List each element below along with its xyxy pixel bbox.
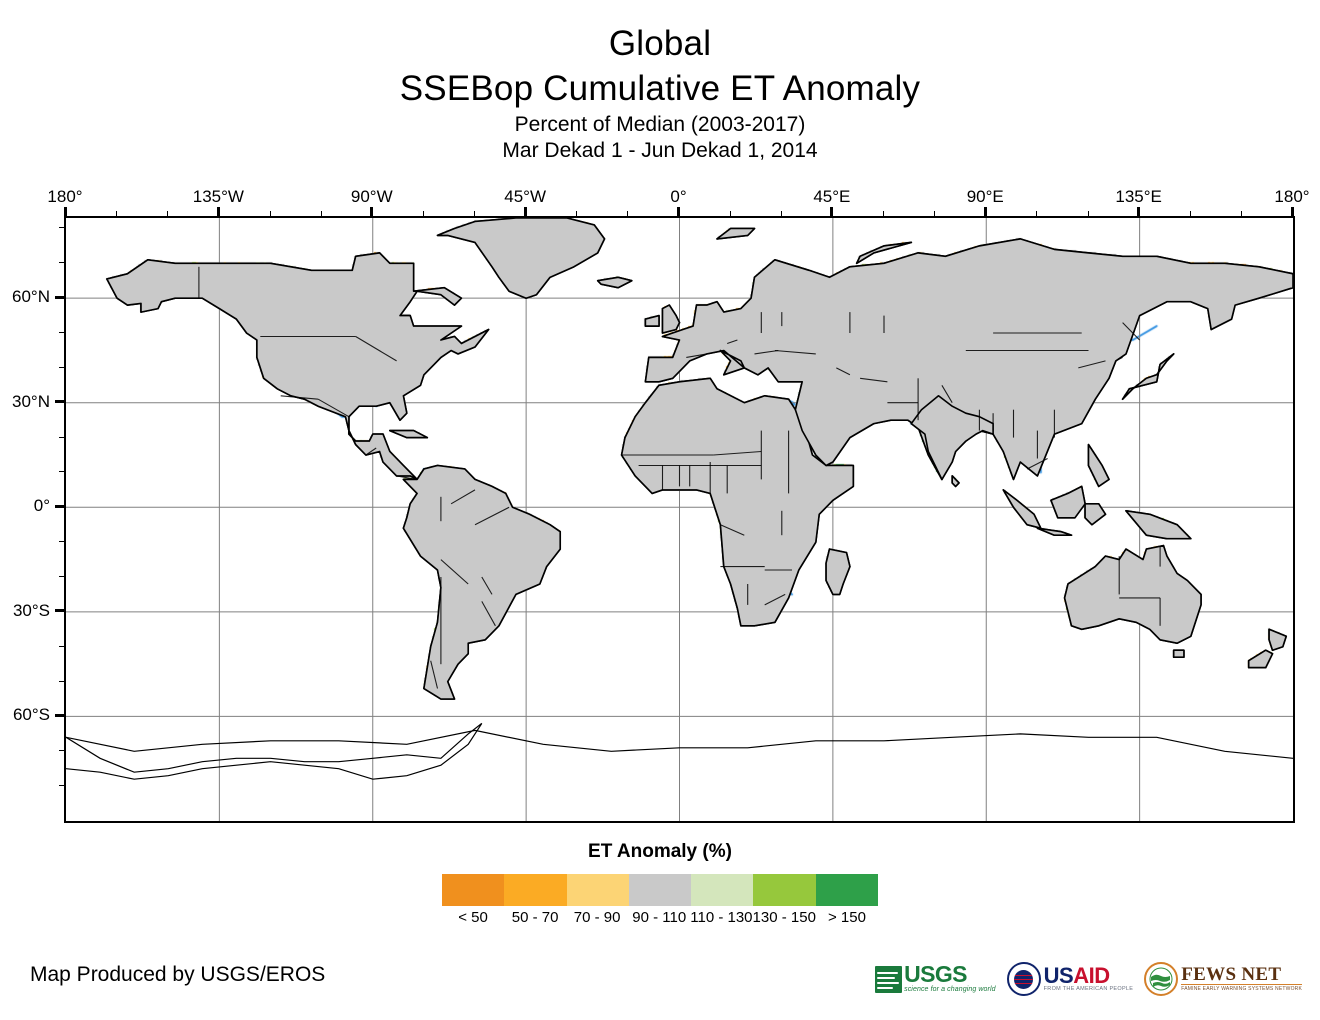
usaid-word-aid: AID (1073, 963, 1109, 988)
x-axis-label-6: 90°E (967, 187, 1004, 207)
legend-labels: < 5050 - 7070 - 9090 - 110110 - 130130 -… (442, 909, 878, 926)
legend-swatch-1 (504, 874, 566, 906)
x-tick-major-4 (677, 207, 680, 216)
y-tick-minor (59, 576, 64, 577)
y-axis-label-2: 0° (0, 496, 50, 516)
usgs-tagline: science for a changing world (904, 985, 996, 994)
x-tick-major-7 (1137, 207, 1140, 216)
x-tick-minor (1190, 211, 1191, 216)
y-tick-major-2 (55, 505, 64, 508)
x-axis-label-4: 0° (670, 187, 686, 207)
usgs-logo[interactable]: USGS science for a changing world (875, 964, 996, 994)
y-tick-minor (59, 471, 64, 472)
x-tick-major-8 (1291, 207, 1294, 216)
x-tick-minor (1036, 211, 1037, 216)
title-detail-1: Percent of Median (2003-2017) (0, 112, 1320, 138)
legend-swatch-2 (567, 874, 629, 906)
y-tick-minor (59, 541, 64, 542)
legend-swatch-label-1: 50 - 70 (504, 909, 566, 926)
y-tick-minor (59, 646, 64, 647)
y-tick-major-1 (55, 400, 64, 403)
usaid-wordmark: USAID (1044, 966, 1134, 986)
usgs-wordmark: USGS (904, 964, 996, 985)
y-tick-minor (59, 367, 64, 368)
y-axis-label-0: 60°N (0, 287, 50, 307)
fewsnet-globe-icon (1144, 962, 1178, 996)
y-tick-minor (59, 785, 64, 786)
y-tick-minor (59, 227, 64, 228)
legend-swatch-3 (629, 874, 691, 906)
map-credit: Map Produced by USGS/EROS (30, 963, 325, 987)
usaid-tagline: FROM THE AMERICAN PEOPLE (1044, 986, 1134, 993)
x-axis-label-2: 90°W (351, 187, 393, 207)
x-axis-label-5: 45°E (813, 187, 850, 207)
x-tick-minor (627, 211, 628, 216)
legend-color-bar (442, 874, 878, 906)
x-axis-label-7: 135°E (1115, 187, 1162, 207)
y-tick-major-0 (55, 296, 64, 299)
map-frame[interactable] (64, 216, 1295, 823)
x-tick-minor (167, 211, 168, 216)
x-axis-label-1: 135°W (193, 187, 244, 207)
y-axis-label-3: 30°S (0, 601, 50, 621)
x-tick-minor (1088, 211, 1089, 216)
world-vector-overlay (66, 218, 1293, 821)
legend-swatch-label-6: > 150 (816, 909, 878, 926)
y-tick-minor (59, 437, 64, 438)
legend-swatch-label-3: 90 - 110 (628, 909, 690, 926)
fewsnet-wordmark: FEWS NET (1181, 965, 1302, 985)
x-tick-minor (781, 211, 782, 216)
legend-swatch-label-5: 130 - 150 (753, 909, 816, 926)
x-tick-major-0 (64, 207, 67, 216)
x-tick-major-1 (217, 207, 220, 216)
x-tick-minor (883, 211, 884, 216)
usaid-seal-icon (1007, 962, 1041, 996)
x-tick-major-3 (524, 207, 527, 216)
legend: ET Anomaly (%) < 5050 - 7070 - 9090 - 11… (0, 840, 1320, 926)
map-canvas[interactable] (66, 218, 1293, 821)
page-title: Global (0, 22, 1320, 66)
y-tick-major-4 (55, 714, 64, 717)
x-tick-minor (116, 211, 117, 216)
x-tick-minor (270, 211, 271, 216)
x-axis-label-0: 180° (47, 187, 82, 207)
y-tick-minor (59, 681, 64, 682)
y-tick-minor (59, 750, 64, 751)
logo-strip: USGS science for a changing world USAID … (875, 955, 1302, 1003)
y-axis-label-1: 30°N (0, 392, 50, 412)
x-tick-minor (730, 211, 731, 216)
page-subtitle: SSEBop Cumulative ET Anomaly (0, 66, 1320, 112)
fewsnet-tagline: FAMINE EARLY WARNING SYSTEMS NETWORK (1181, 985, 1302, 993)
usgs-wave-mark-icon (875, 966, 902, 993)
y-axis-label-4: 60°S (0, 705, 50, 725)
legend-swatch-6 (816, 874, 878, 906)
title-block: Global SSEBop Cumulative ET Anomaly Perc… (0, 22, 1320, 164)
x-axis-label-8: 180° (1274, 187, 1309, 207)
y-tick-minor (59, 262, 64, 263)
x-tick-major-5 (830, 207, 833, 216)
legend-swatch-label-0: < 50 (442, 909, 504, 926)
x-tick-minor (1241, 211, 1242, 216)
x-tick-major-2 (370, 207, 373, 216)
x-tick-minor (934, 211, 935, 216)
legend-title: ET Anomaly (%) (0, 840, 1320, 864)
y-tick-minor (59, 332, 64, 333)
x-tick-minor (474, 211, 475, 216)
x-tick-minor (576, 211, 577, 216)
y-tick-major-3 (55, 609, 64, 612)
x-tick-minor (423, 211, 424, 216)
usaid-logo[interactable]: USAID FROM THE AMERICAN PEOPLE (1007, 962, 1134, 996)
legend-swatch-label-2: 70 - 90 (566, 909, 628, 926)
legend-swatch-4 (691, 874, 753, 906)
legend-swatch-0 (442, 874, 504, 906)
usaid-word-us: US (1044, 963, 1074, 988)
x-tick-minor (321, 211, 322, 216)
title-detail-2: Mar Dekad 1 - Jun Dekad 1, 2014 (0, 138, 1320, 164)
x-axis-label-3: 45°W (504, 187, 546, 207)
fewsnet-logo[interactable]: FEWS NET FAMINE EARLY WARNING SYSTEMS NE… (1144, 962, 1302, 996)
legend-swatch-label-4: 110 - 130 (690, 909, 752, 926)
legend-swatch-5 (753, 874, 815, 906)
x-tick-major-6 (984, 207, 987, 216)
